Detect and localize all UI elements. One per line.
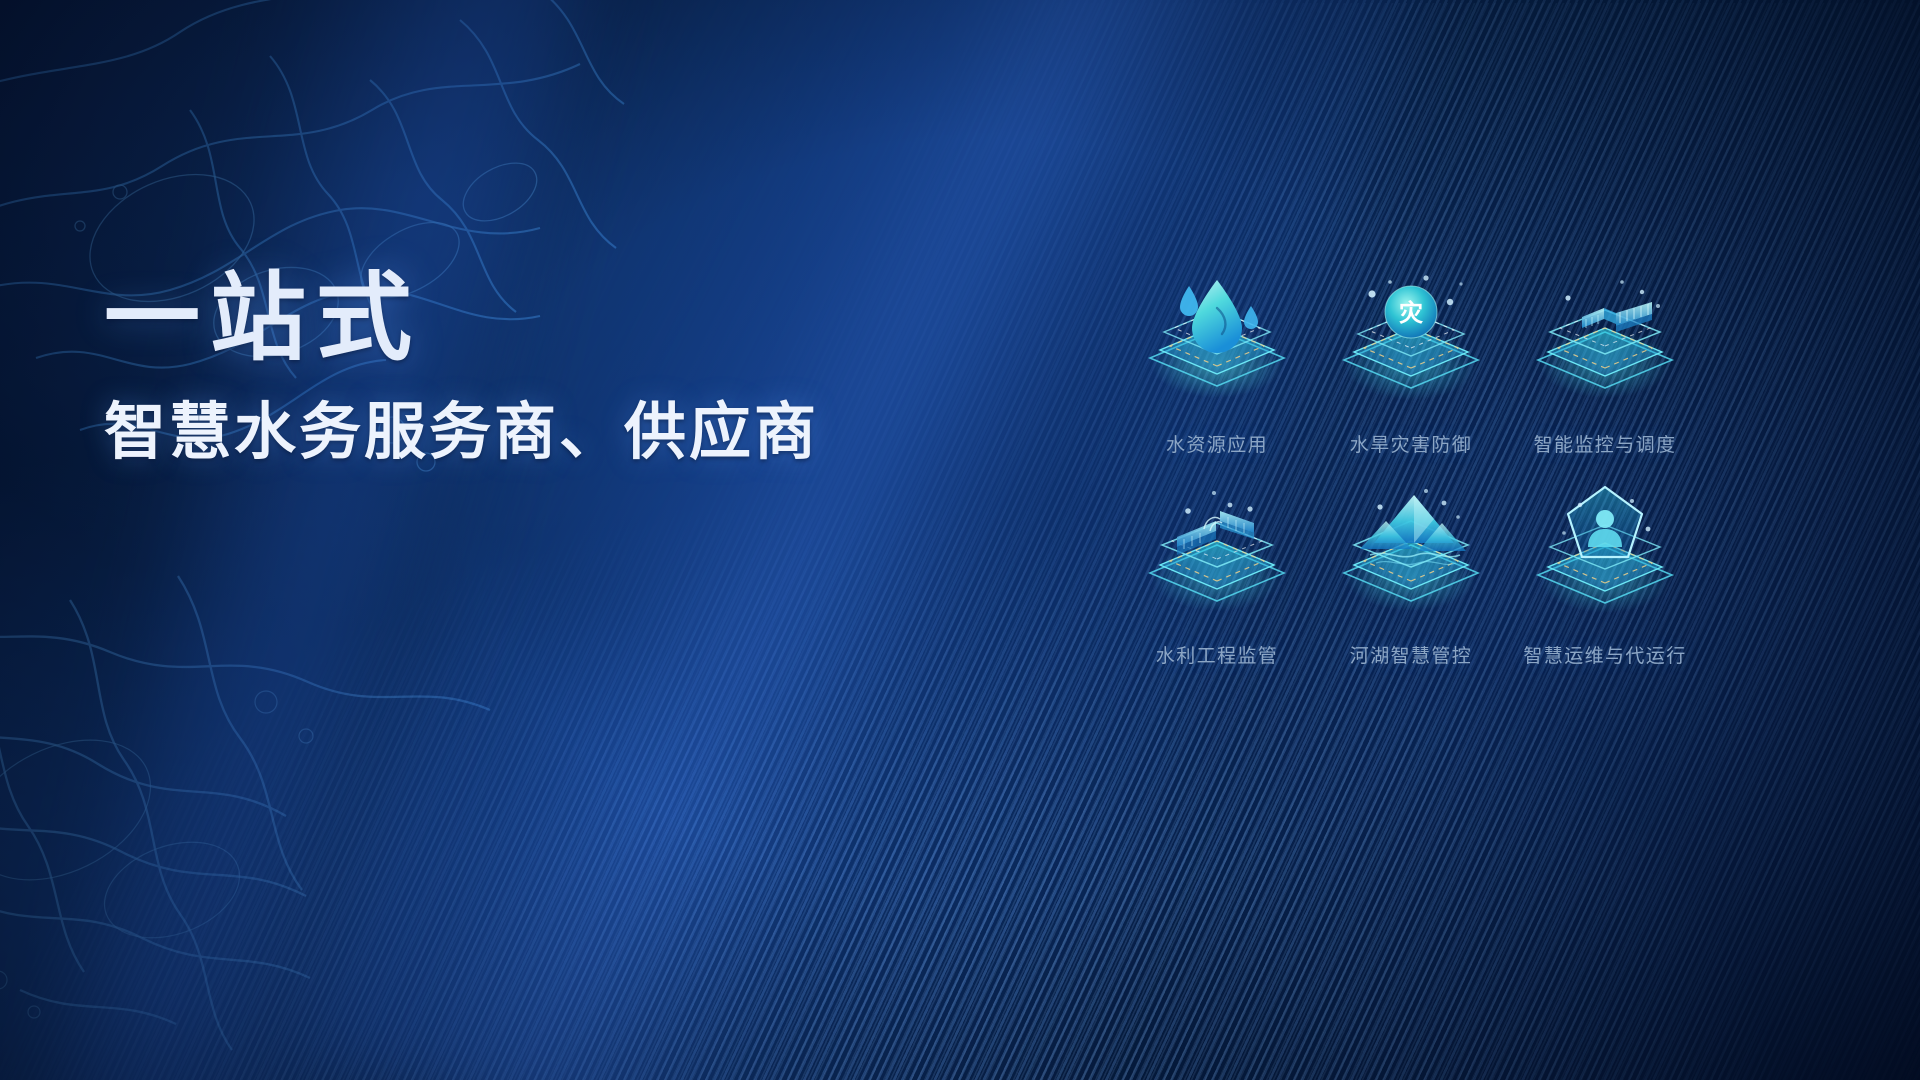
feature-item-water-resource-application[interactable]: 水资源应用 <box>1132 268 1302 457</box>
feature-label: 智慧运维与代运行 <box>1523 641 1686 668</box>
page-title-main: 一站式 <box>104 268 934 370</box>
disaster-glyph: 灾 <box>1399 299 1423 327</box>
slide-canvas: 一站式 智慧水务服务商、供应商 <box>0 0 1920 1080</box>
feature-label: 河湖智慧管控 <box>1350 641 1472 668</box>
feature-label: 智能监控与调度 <box>1534 430 1677 457</box>
feature-item-smart-monitor-dispatch[interactable]: 智能监控与调度 <box>1520 268 1690 457</box>
feature-item-river-lake-smart-control[interactable]: 河湖智慧管控 <box>1326 481 1496 668</box>
feature-grid: 水资源应用 <box>1132 268 1690 668</box>
feature-item-hydro-project-supervision[interactable]: 水利工程监管 <box>1132 481 1302 668</box>
dam-reservoir-icon <box>1520 268 1690 418</box>
water-caustic-texture-bottom-left <box>0 560 670 1080</box>
feature-item-flood-drought-defense[interactable]: 灾 水旱灾害防御 <box>1326 268 1496 457</box>
disaster-sphere-icon: 灾 <box>1326 268 1496 418</box>
headline-block: 一站式 智慧水务服务商、供应商 <box>104 268 934 469</box>
mountain-river-icon <box>1326 481 1496 631</box>
feature-item-smart-ops-proxy-operation[interactable]: 智慧运维与代运行 <box>1520 481 1690 668</box>
page-title-sub: 智慧水务服务商、供应商 <box>104 396 934 469</box>
water-drop-icon <box>1132 268 1302 418</box>
engineering-works-icon <box>1132 481 1302 631</box>
feature-label: 水旱灾害防御 <box>1350 430 1472 457</box>
shield-operator-icon <box>1520 481 1690 631</box>
feature-label: 水利工程监管 <box>1156 641 1278 668</box>
light-streak-secondary <box>42 0 627 1080</box>
feature-label: 水资源应用 <box>1166 430 1268 457</box>
